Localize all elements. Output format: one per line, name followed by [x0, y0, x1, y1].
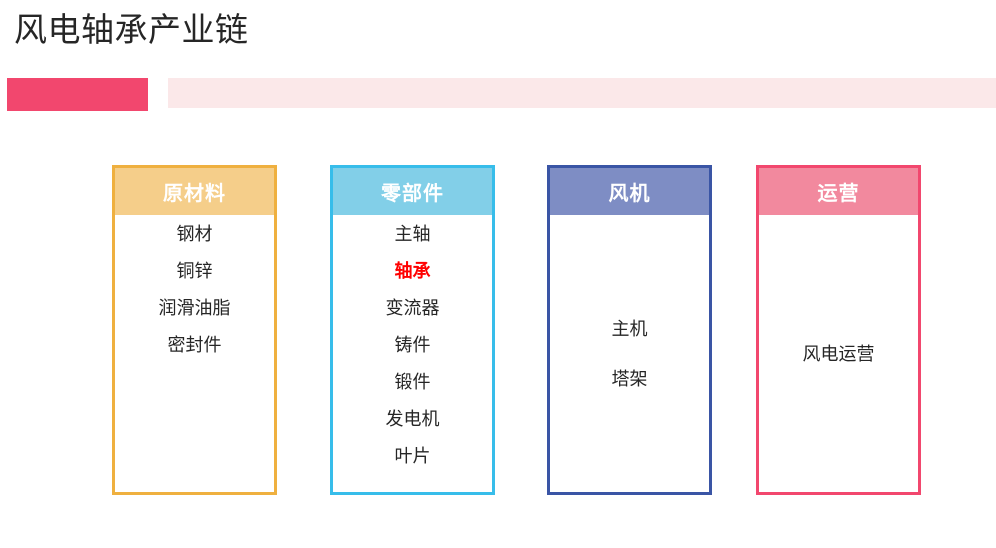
chain-item[interactable]: 主轴 — [395, 225, 431, 243]
chain-item[interactable]: 变流器 — [386, 299, 440, 317]
chain-item[interactable]: 发电机 — [386, 410, 440, 428]
accent-bar-soft-segment — [168, 78, 996, 108]
chain-column-1[interactable]: 零部件主轴轴承变流器铸件锻件发电机叶片 — [330, 165, 495, 495]
chain-item[interactable]: 叶片 — [395, 447, 431, 465]
page-title: 风电轴承产业链 — [14, 8, 249, 52]
industry-chain-diagram: 原材料钢材铜锌润滑油脂密封件零部件主轴轴承变流器铸件锻件发电机叶片风机主机塔架运… — [0, 165, 996, 495]
chain-column-body: 主机塔架 — [550, 215, 709, 492]
chain-column-0[interactable]: 原材料钢材铜锌润滑油脂密封件 — [112, 165, 277, 495]
chain-item[interactable]: 密封件 — [168, 336, 222, 354]
chain-column-header: 风机 — [550, 168, 709, 215]
chain-item[interactable]: 铜锌 — [177, 262, 213, 280]
accent-bar-strong-segment — [7, 78, 148, 111]
chain-column-body: 风电运营 — [759, 215, 918, 492]
chain-item[interactable]: 润滑油脂 — [159, 299, 231, 317]
chain-item[interactable]: 塔架 — [612, 370, 648, 388]
chain-item[interactable]: 锻件 — [395, 373, 431, 391]
chain-column-2[interactable]: 风机主机塔架 — [547, 165, 712, 495]
chain-item[interactable]: 主机 — [612, 320, 648, 338]
chain-column-header: 运营 — [759, 168, 918, 215]
chain-column-3[interactable]: 运营风电运营 — [756, 165, 921, 495]
chain-column-header: 原材料 — [115, 168, 274, 215]
chain-item[interactable]: 钢材 — [177, 225, 213, 243]
chain-column-body: 主轴轴承变流器铸件锻件发电机叶片 — [333, 215, 492, 492]
chain-item-highlighted[interactable]: 轴承 — [395, 262, 431, 280]
chain-column-body: 钢材铜锌润滑油脂密封件 — [115, 215, 274, 492]
chain-column-header: 零部件 — [333, 168, 492, 215]
chain-item[interactable]: 风电运营 — [803, 345, 875, 363]
title-accent-bar — [0, 78, 996, 111]
chain-item[interactable]: 铸件 — [395, 336, 431, 354]
